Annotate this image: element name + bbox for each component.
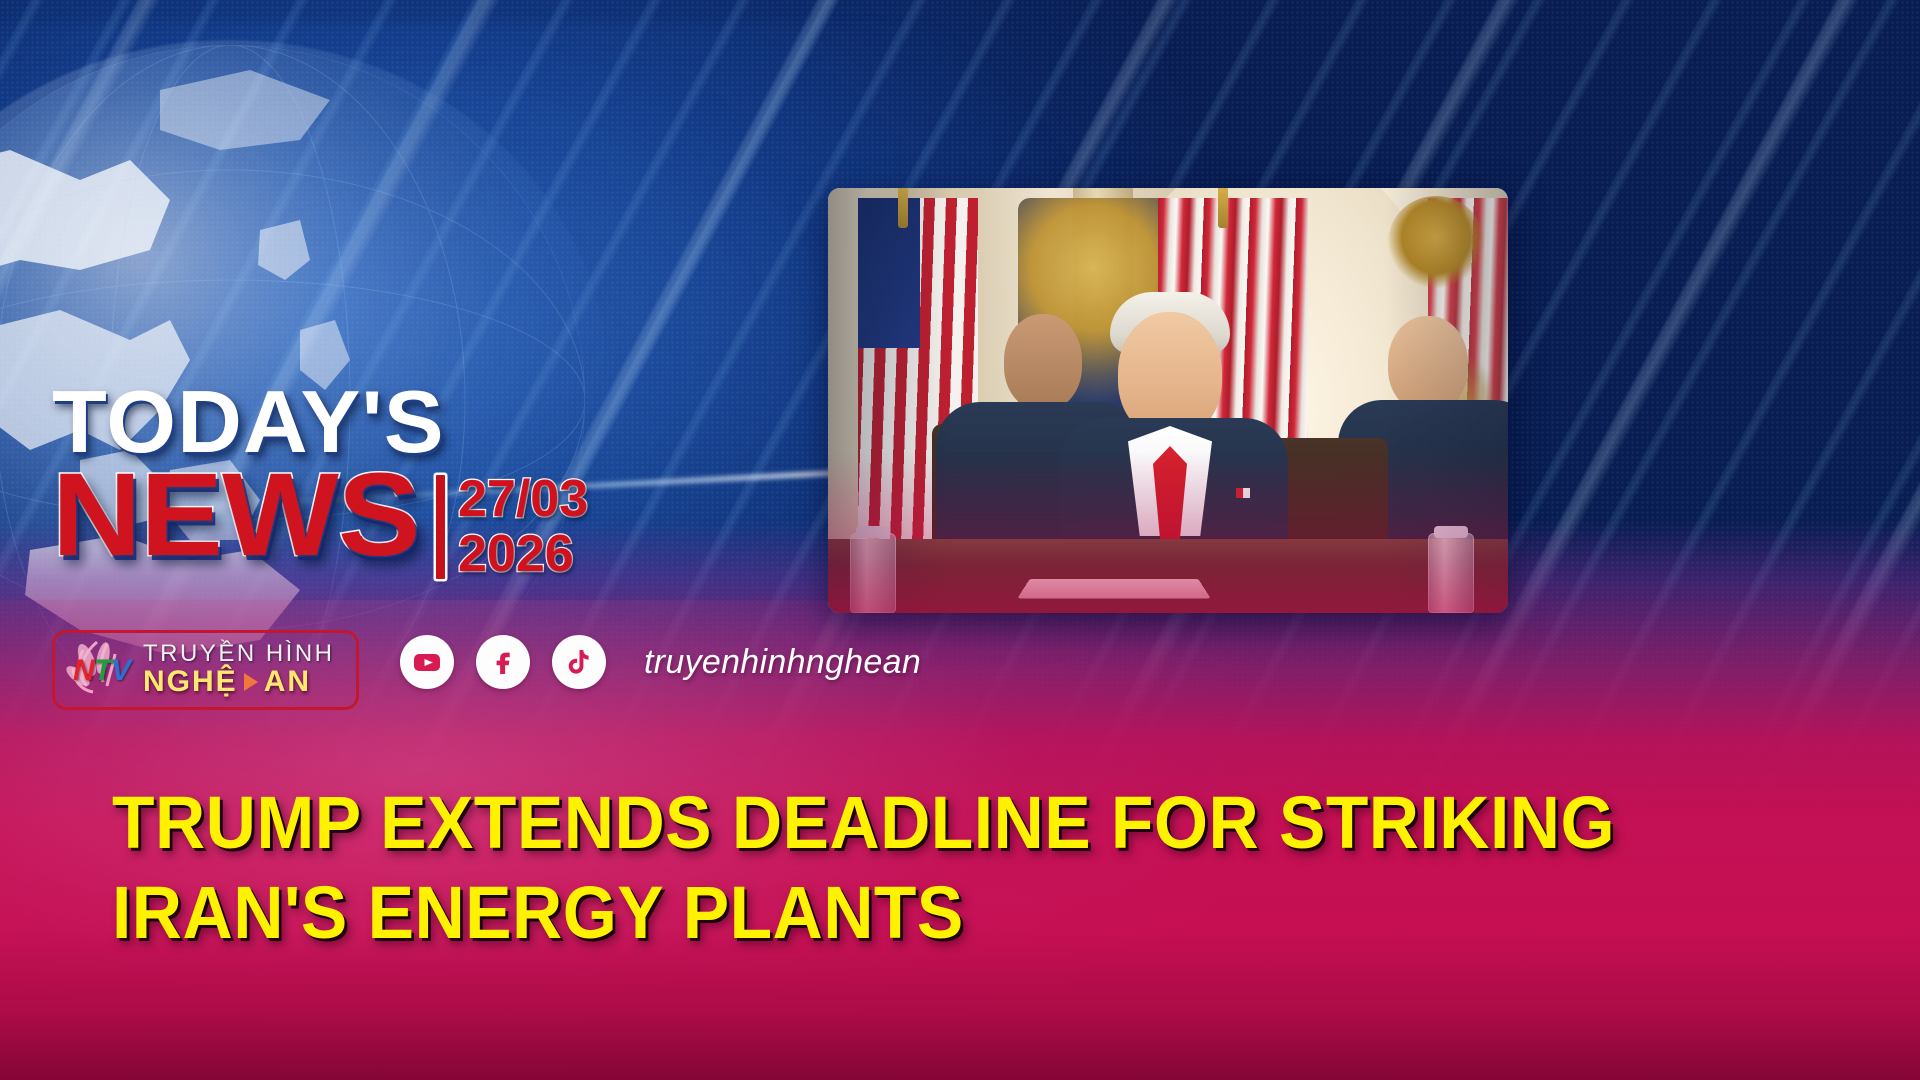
headline: TRUMP EXTENDS DEADLINE FOR STRIKING IRAN… [112, 778, 1710, 959]
channel-line-2: NGHỆ AN [143, 667, 335, 698]
channel-line-2-right: AN [264, 667, 311, 698]
news-label: NEWS [52, 460, 419, 571]
date-divider-bar [436, 475, 445, 579]
cabinet-table [828, 539, 1508, 613]
channel-line-2-left: NGHỆ [143, 667, 238, 698]
date-text-group: 27/03 2026 [458, 472, 588, 580]
social-row: truyenhinhnghean [400, 635, 921, 689]
news-photo [828, 188, 1508, 613]
person-left-head [1004, 314, 1082, 410]
ntv-wordmark: NTV [73, 656, 130, 686]
headline-line-2: IRAN'S ENERGY PLANTS [112, 868, 1710, 958]
ntv-letter-t: T [94, 654, 111, 687]
date-year: 2026 [458, 527, 588, 581]
eagle-ornament-icon [1388, 196, 1484, 288]
facebook-icon[interactable] [476, 635, 530, 689]
flag-pole-center [1218, 188, 1228, 228]
tiktok-icon[interactable] [552, 635, 606, 689]
ntv-letter-v: V [111, 654, 130, 687]
ntv-flower-icon: NTV [63, 634, 137, 706]
flag-lapel-pin-icon [1236, 488, 1250, 498]
water-bottle-right [1428, 533, 1474, 613]
brand-block: TODAY'S NEWS 27/03 2026 [52, 380, 772, 581]
news-graphic-canvas: TODAY'S NEWS 27/03 2026 [0, 0, 1920, 1080]
channel-name-group: TRUYỀN HÌNH NGHỆ AN [143, 642, 335, 697]
water-bottle-left [850, 533, 896, 613]
channel-logo-badge: NTV TRUYỀN HÌNH NGHỆ AN [52, 630, 359, 710]
youtube-icon[interactable] [400, 635, 454, 689]
news-and-date-row: NEWS 27/03 2026 [52, 460, 772, 580]
social-handle: truyenhinhnghean [644, 643, 921, 682]
person-right-head [1388, 316, 1468, 412]
date-block: 27/03 2026 [436, 472, 588, 580]
photo-content [828, 188, 1508, 613]
headline-line-1: TRUMP EXTENDS DEADLINE FOR STRIKING [112, 778, 1710, 868]
date-day-month: 27/03 [458, 472, 588, 526]
channel-line-1: TRUYỀN HÌNH [143, 642, 335, 666]
play-triangle-icon [244, 673, 258, 691]
flag-pole-left [898, 188, 908, 228]
ntv-letter-n: N [73, 654, 94, 687]
papers-on-table [1017, 579, 1210, 599]
